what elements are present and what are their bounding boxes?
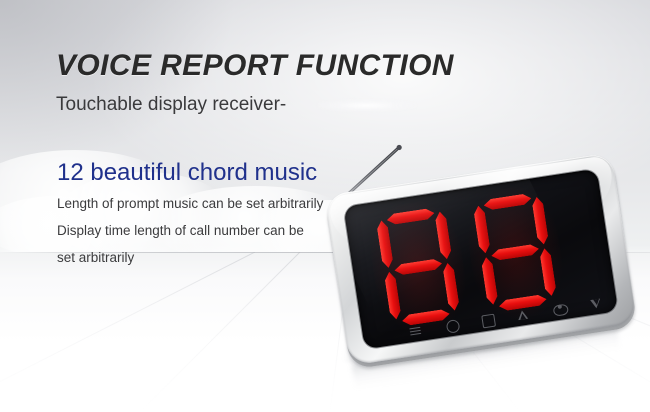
page-title: VOICE REPORT FUNCTION bbox=[56, 49, 454, 83]
page-subtitle: Touchable display receiver- bbox=[56, 94, 286, 116]
segment-f bbox=[376, 220, 394, 269]
segment-b bbox=[434, 211, 452, 260]
feature-description-line: Length of prompt music can be set arbitr… bbox=[57, 196, 323, 211]
segment-e bbox=[384, 271, 402, 320]
segment-e bbox=[481, 256, 499, 305]
menu-lines-icon[interactable] bbox=[408, 324, 423, 339]
feature-description-line: Display time length of call number can b… bbox=[57, 223, 304, 238]
segment-g bbox=[491, 243, 540, 261]
segment-a bbox=[386, 208, 435, 226]
segment-b bbox=[531, 196, 549, 245]
segment-a bbox=[483, 193, 532, 211]
promo-banner: VOICE REPORT FUNCTION Touchable display … bbox=[0, 0, 650, 412]
square-icon[interactable] bbox=[480, 313, 495, 328]
segment-g bbox=[394, 258, 443, 276]
segment-f bbox=[473, 205, 491, 254]
subtitle-smudge bbox=[318, 99, 418, 112]
triangle-down-icon[interactable] bbox=[589, 296, 604, 311]
triangle-up-icon[interactable] bbox=[516, 307, 531, 322]
feature-title: 12 beautiful chord music bbox=[57, 159, 317, 187]
segment-c bbox=[539, 248, 557, 297]
feature-description-line: set arbitrarily bbox=[57, 250, 134, 265]
eye-icon[interactable] bbox=[553, 302, 568, 317]
circle-icon[interactable] bbox=[444, 318, 459, 333]
segment-c bbox=[442, 262, 460, 311]
